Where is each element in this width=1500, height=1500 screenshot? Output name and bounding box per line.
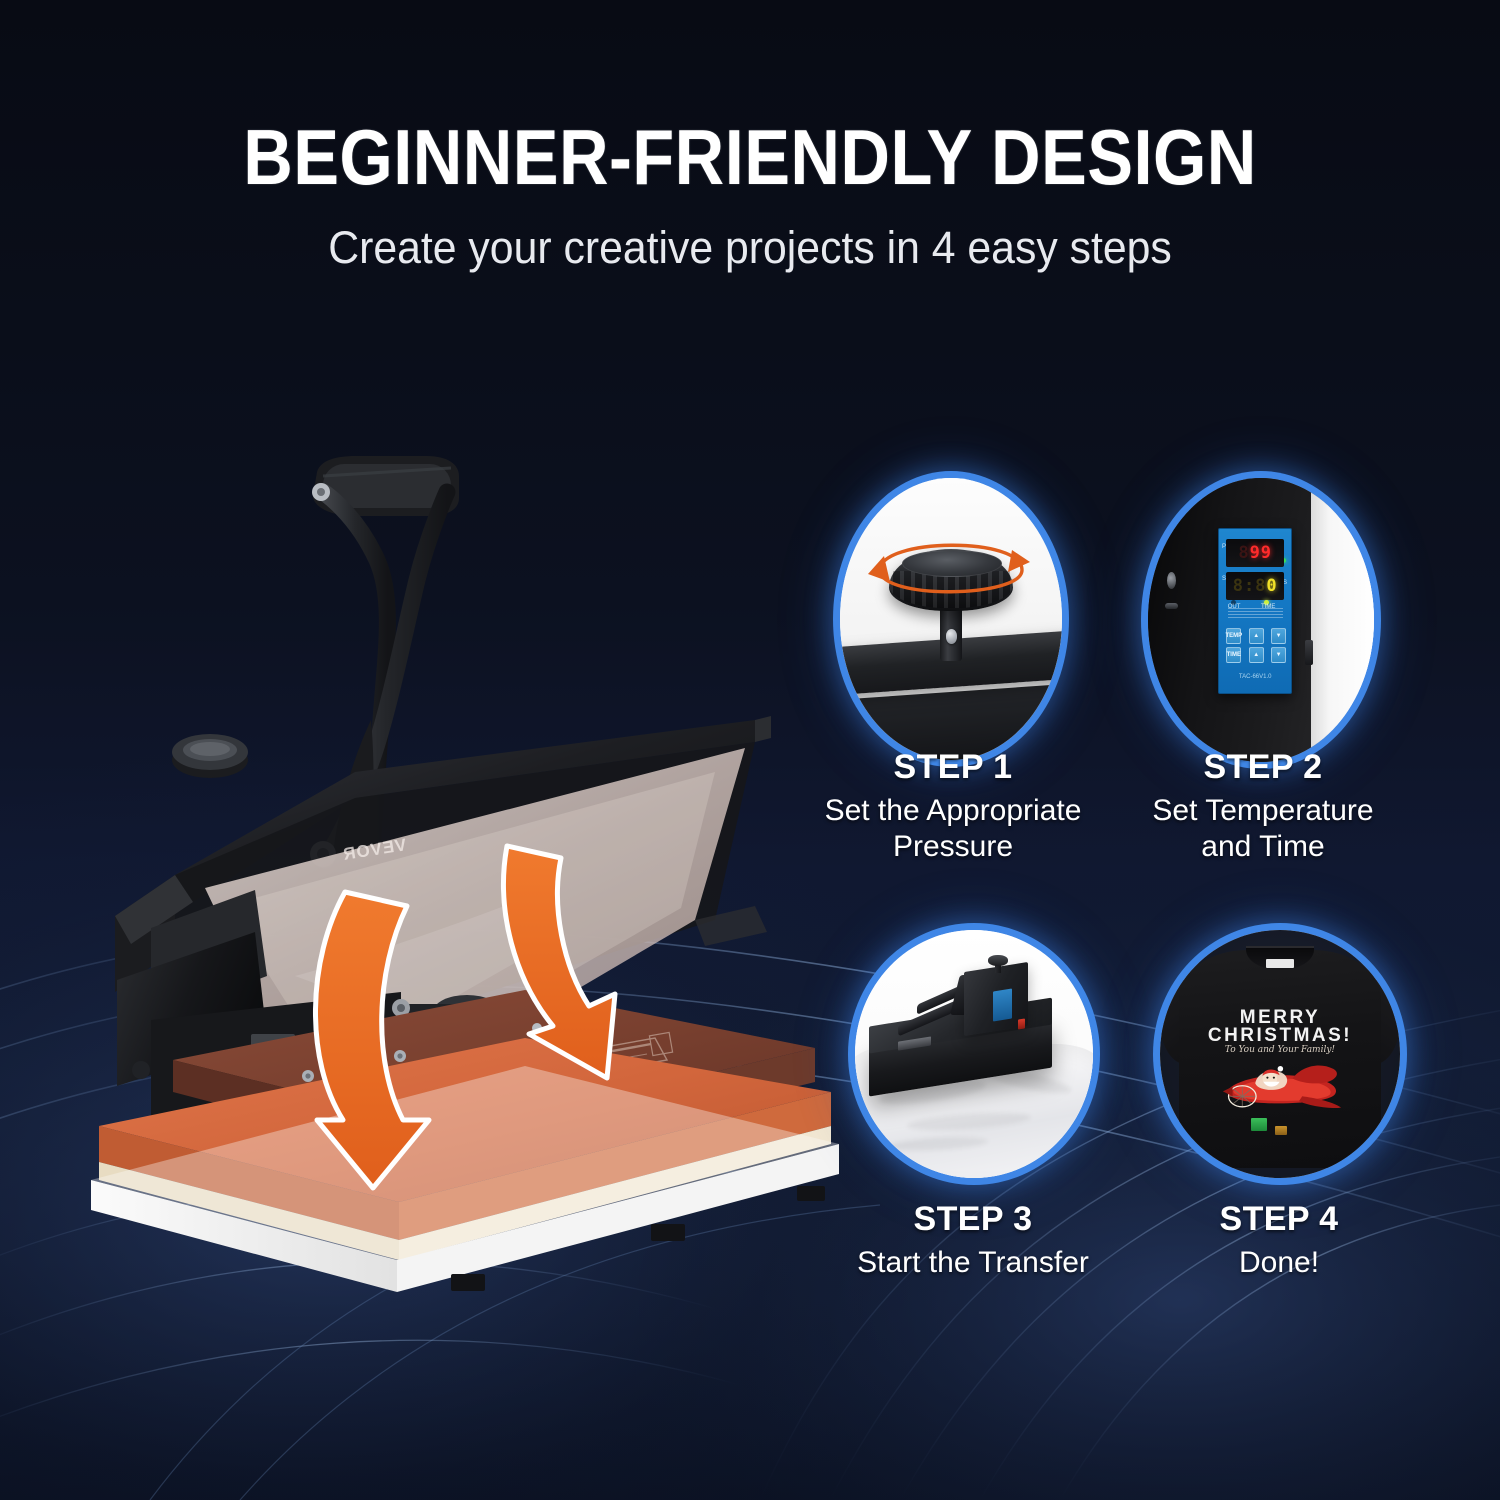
page-subtitle: Create your creative projects in 4 easy …	[38, 222, 1463, 274]
step-1-desc-line1: Set the Appropriate	[820, 793, 1086, 829]
time-display: 8:8 0	[1226, 572, 1284, 600]
step-3-desc-line1: Start the Transfer	[840, 1245, 1106, 1281]
step-1-image	[840, 478, 1062, 760]
page-title: BEGINNER-FRIENDLY DESIGN	[90, 118, 1410, 196]
digital-controller-panel: PV °C °F SV S 8 99 8:8 0 OUT TIME	[1218, 528, 1292, 695]
time-up-button[interactable]: ▲	[1249, 647, 1264, 663]
temp-button[interactable]: TEMP	[1226, 628, 1241, 644]
time-value: 0	[1266, 576, 1277, 596]
time-button[interactable]: TIME	[1226, 647, 1241, 663]
rotation-arrow-icon	[840, 478, 1062, 760]
temp-up-button[interactable]: ▲	[1249, 628, 1264, 644]
temp-down-button[interactable]: ▼	[1271, 628, 1286, 644]
step-3-caption: STEP 3 Start the Transfer	[840, 1200, 1106, 1281]
step-1-number: STEP 1	[820, 748, 1086, 787]
time-down-button[interactable]: ▼	[1271, 647, 1286, 663]
step-3-number: STEP 3	[840, 1200, 1106, 1239]
header-block: BEGINNER-FRIENDLY DESIGN Create your cre…	[0, 118, 1500, 274]
time-dim-digits: 8:8	[1233, 576, 1267, 596]
step-3-image	[855, 930, 1093, 1178]
step-4-image: MERRY CHRISTMAS! To You and Your Family!	[1160, 930, 1400, 1178]
infographic-canvas: BEGINNER-FRIENDLY DESIGN Create your cre…	[0, 0, 1500, 1500]
temperature-display: 8 99	[1226, 539, 1284, 567]
tshirt-text-line2: CHRISTMAS!	[1160, 1025, 1400, 1047]
step-1-desc-line2: Pressure	[820, 829, 1086, 865]
step-2-image: PV °C °F SV S 8 99 8:8 0 OUT TIME	[1148, 478, 1374, 762]
step-2-desc-line2: and Time	[1130, 829, 1396, 865]
gold-gift-box	[1275, 1126, 1287, 1135]
pressure-adjust-knob	[172, 734, 248, 778]
step-2-number: STEP 2	[1130, 748, 1396, 787]
controller-model-label: TAC-66V1.0	[1219, 674, 1291, 680]
green-gift-box	[1251, 1118, 1267, 1130]
step-2-desc-line1: Set Temperature	[1130, 793, 1396, 829]
step-1-caption: STEP 1 Set the Appropriate Pressure	[820, 748, 1086, 865]
heat-press-machine-illustration: VEVOR	[55, 420, 845, 1320]
step-4-desc-line1: Done!	[1146, 1245, 1412, 1281]
temp-value: 99	[1250, 543, 1272, 563]
step-2-caption: STEP 2 Set Temperature and Time	[1130, 748, 1396, 865]
step-4-caption: STEP 4 Done!	[1146, 1200, 1412, 1281]
temp-dim-digit: 8	[1238, 543, 1249, 563]
step-4-number: STEP 4	[1146, 1200, 1412, 1239]
santa-airplane-graphic	[1218, 1054, 1348, 1111]
